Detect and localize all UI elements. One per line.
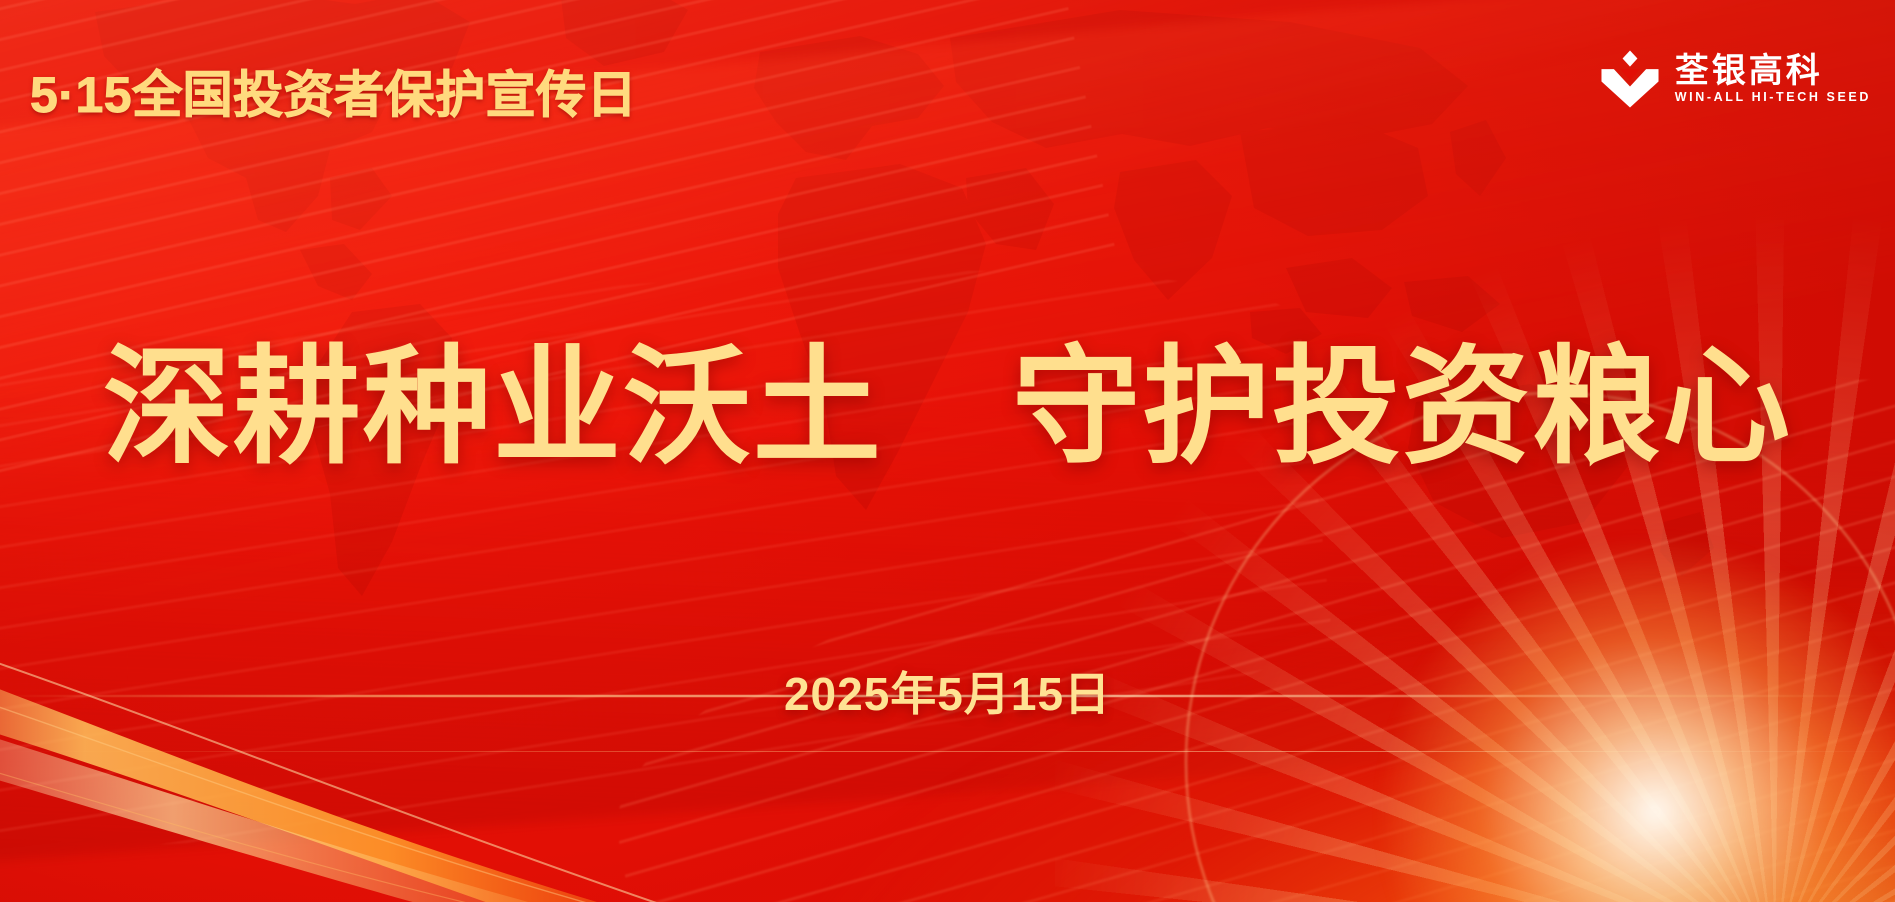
headline-part-2: 守护投资粮心 (1012, 336, 1792, 479)
investor-protection-banner: 5·15全国投资者保护宣传日 荃银高科 WIN-ALL HI-TECH SEED… (0, 0, 1895, 902)
banner-content: 5·15全国投资者保护宣传日 荃银高科 WIN-ALL HI-TECH SEED… (0, 0, 1895, 902)
win-all-chevron-logo-icon (1599, 48, 1661, 110)
company-logo-lockup: 荃银高科 WIN-ALL HI-TECH SEED (1599, 48, 1871, 110)
event-date: 2025年5月15日 (0, 658, 1895, 724)
brand-name-cn: 荃银高科 (1675, 54, 1823, 88)
campaign-eyebrow-title: 5·15全国投资者保护宣传日 (30, 55, 637, 127)
brand-name-en: WIN-ALL HI-TECH SEED (1675, 91, 1871, 104)
brand-text-block: 荃银高科 WIN-ALL HI-TECH SEED (1675, 54, 1871, 104)
headline-part-1: 深耕种业沃土 (103, 336, 883, 479)
main-headline: 深耕种业沃土 守护投资粮心 (0, 344, 1895, 472)
